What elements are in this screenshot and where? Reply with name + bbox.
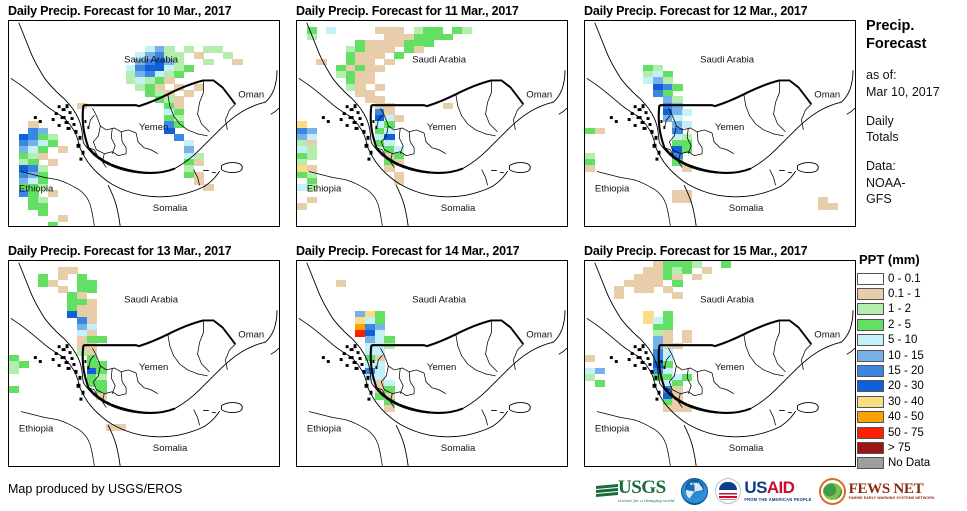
map-canvas-2[interactable]: Saudi Arabia Oman Yemen Ethiopia Somalia [296, 20, 568, 227]
legend-swatch [857, 319, 884, 331]
noaa-logo: NOAA [681, 476, 708, 506]
label-somalia: Somalia [153, 203, 188, 214]
usgs-tagline: science for a changing world [618, 498, 674, 503]
totals-block: Daily Totals [866, 113, 967, 146]
data-source-line1: NOAA- [866, 175, 967, 191]
panel-title: Daily Precip. Forecast for 14 Mar., 2017 [296, 244, 519, 258]
legend-label: 30 - 40 [888, 396, 924, 408]
label-saudi-arabia: Saudi Arabia [412, 295, 467, 306]
label-oman: Oman [526, 89, 552, 100]
panel-title: Daily Precip. Forecast for 11 Mar., 2017 [296, 4, 519, 18]
basemap-svg: Saudi Arabia Oman Yemen Ethiopia Somalia [297, 261, 567, 466]
panel-title: Daily Precip. Forecast for 12 Mar., 2017 [584, 4, 807, 18]
map-canvas-5[interactable]: Saudi Arabia Oman Yemen Ethiopia Somalia [296, 260, 568, 467]
label-oman: Oman [814, 89, 840, 100]
legend-swatch [857, 427, 884, 439]
label-oman: Oman [526, 329, 552, 340]
label-yemen: Yemen [715, 122, 744, 133]
sidebar-title: Precip. Forecast [866, 18, 967, 53]
legend-label: 40 - 50 [888, 411, 924, 423]
legend-swatch [857, 350, 884, 362]
agency-logos: USGS science for a changing world NOAA U… [596, 474, 935, 508]
fewsnet-tagline: FAMINE EARLY WARNING SYSTEMS NETWORK [849, 496, 935, 500]
label-ethiopia: Ethiopia [19, 183, 54, 194]
legend-rows: 0 - 0.10.1 - 11 - 22 - 55 - 1010 - 1515 … [857, 271, 967, 471]
usaid-tagline: FROM THE AMERICAN PEOPLE [744, 497, 811, 502]
legend-label: 1 - 2 [888, 303, 911, 315]
label-somalia: Somalia [729, 443, 764, 454]
noaa-label: NOAA [690, 482, 700, 486]
legend-label: 2 - 5 [888, 319, 911, 331]
legend-swatch [857, 442, 884, 454]
label-yemen: Yemen [139, 122, 168, 133]
legend-swatch [857, 303, 884, 315]
legend-swatch [857, 365, 884, 377]
precip-legend: PPT (mm) 0 - 0.10.1 - 11 - 22 - 55 - 101… [857, 252, 967, 471]
legend-swatch [857, 273, 884, 285]
legend-row: 1 - 2 [857, 302, 967, 317]
legend-row: 30 - 40 [857, 394, 967, 409]
label-somalia: Somalia [441, 443, 476, 454]
label-somalia: Somalia [153, 443, 188, 454]
legend-row: 15 - 20 [857, 363, 967, 378]
legend-title: PPT (mm) [859, 252, 967, 267]
legend-label: 50 - 75 [888, 427, 924, 439]
legend-row: 5 - 10 [857, 333, 967, 348]
map-canvas-4[interactable]: Saudi Arabia Oman Yemen Ethiopia Somalia [8, 260, 280, 467]
legend-swatch [857, 288, 884, 300]
usaid-aid: AID [767, 478, 794, 497]
data-source-label: Data: [866, 158, 967, 174]
label-ethiopia: Ethiopia [595, 423, 630, 434]
legend-row: 10 - 15 [857, 348, 967, 363]
legend-row: 2 - 5 [857, 317, 967, 332]
label-ethiopia: Ethiopia [595, 183, 630, 194]
map-canvas-3[interactable]: Saudi Arabia Oman Yemen Ethiopia Somalia [584, 20, 856, 227]
fewsnet-logo: FEWS NET FAMINE EARLY WARNING SYSTEMS NE… [819, 476, 935, 506]
label-saudi-arabia: Saudi Arabia [124, 55, 179, 66]
as-of-label: as of: [866, 67, 967, 83]
panel-title: Daily Precip. Forecast for 10 Mar., 2017 [8, 4, 231, 18]
basemap-svg: Saudi Arabia Oman Yemen Ethiopia Somalia [297, 21, 567, 226]
legend-label: 15 - 20 [888, 365, 924, 377]
fews-globe-icon [819, 478, 846, 505]
legend-label: 0 - 0.1 [888, 273, 921, 285]
legend-row: 40 - 50 [857, 410, 967, 425]
usaid-wordmark: USAID [744, 480, 811, 496]
label-saudi-arabia: Saudi Arabia [700, 55, 755, 66]
label-somalia: Somalia [729, 203, 764, 214]
sidebar-title-line2: Forecast [866, 36, 967, 54]
legend-label: 0.1 - 1 [888, 288, 921, 300]
legend-swatch [857, 457, 884, 469]
data-source-block: Data: NOAA- GFS [866, 158, 967, 207]
legend-label: 20 - 30 [888, 380, 924, 392]
label-ethiopia: Ethiopia [307, 423, 342, 434]
legend-swatch [857, 334, 884, 346]
legend-swatch [857, 396, 884, 408]
legend-label: > 75 [888, 442, 911, 454]
sidebar-title-line1: Precip. [866, 18, 967, 36]
legend-row: No Data [857, 456, 967, 471]
label-oman: Oman [238, 329, 264, 340]
legend-row: > 75 [857, 440, 967, 455]
as-of-date: Mar 10, 2017 [866, 84, 967, 100]
label-saudi-arabia: Saudi Arabia [412, 55, 467, 66]
panel-title: Daily Precip. Forecast for 13 Mar., 2017 [8, 244, 231, 258]
label-yemen: Yemen [139, 362, 168, 373]
map-canvas-1[interactable]: Saudi Arabia Oman Yemen Ethiopia Somalia [8, 20, 280, 227]
usaid-seal-icon [715, 478, 741, 504]
basemap-svg: Saudi Arabia Oman Yemen Ethiopia Somalia [585, 21, 855, 226]
legend-row: 50 - 75 [857, 425, 967, 440]
legend-row: 20 - 30 [857, 379, 967, 394]
basemap-svg: Saudi Arabia Oman Yemen Ethiopia Somalia [9, 21, 279, 226]
legend-label: 5 - 10 [888, 334, 917, 346]
label-oman: Oman [814, 329, 840, 340]
panel-title: Daily Precip. Forecast for 15 Mar., 2017 [584, 244, 807, 258]
basemap-svg: Saudi Arabia Oman Yemen Ethiopia Somalia [9, 261, 279, 466]
label-somalia: Somalia [441, 203, 476, 214]
totals-line2: Totals [866, 129, 967, 145]
legend-label: No Data [888, 457, 930, 469]
usgs-logo: USGS science for a changing world [596, 476, 674, 506]
legend-swatch [857, 411, 884, 423]
as-of-block: as of: Mar 10, 2017 [866, 67, 967, 100]
label-oman: Oman [238, 89, 264, 100]
info-sidebar: Precip. Forecast as of: Mar 10, 2017 Dai… [866, 18, 967, 220]
basemap-svg: Saudi Arabia Oman Yemen Ethiopia Somalia [585, 261, 855, 466]
label-saudi-arabia: Saudi Arabia [700, 295, 755, 306]
label-saudi-arabia: Saudi Arabia [124, 295, 179, 306]
legend-swatch [857, 380, 884, 392]
legend-row: 0.1 - 1 [857, 286, 967, 301]
usaid-us: US [744, 478, 766, 497]
fewsnet-wordmark: FEWS NET [849, 482, 935, 496]
map-credit: Map produced by USGS/EROS [8, 482, 182, 496]
legend-row: 0 - 0.1 [857, 271, 967, 286]
label-yemen: Yemen [715, 362, 744, 373]
usgs-wave-icon [596, 483, 618, 499]
usaid-logo: USAID FROM THE AMERICAN PEOPLE [715, 476, 811, 506]
label-yemen: Yemen [427, 362, 456, 373]
usgs-wordmark: USGS [618, 479, 674, 497]
noaa-seal-icon: NOAA [681, 478, 708, 505]
totals-line1: Daily [866, 113, 967, 129]
map-canvas-6[interactable]: Saudi Arabia Oman Yemen Ethiopia Somalia [584, 260, 856, 467]
data-source-line2: GFS [866, 191, 967, 207]
legend-label: 10 - 15 [888, 350, 924, 362]
label-ethiopia: Ethiopia [19, 423, 54, 434]
label-ethiopia: Ethiopia [307, 183, 342, 194]
label-yemen: Yemen [427, 122, 456, 133]
